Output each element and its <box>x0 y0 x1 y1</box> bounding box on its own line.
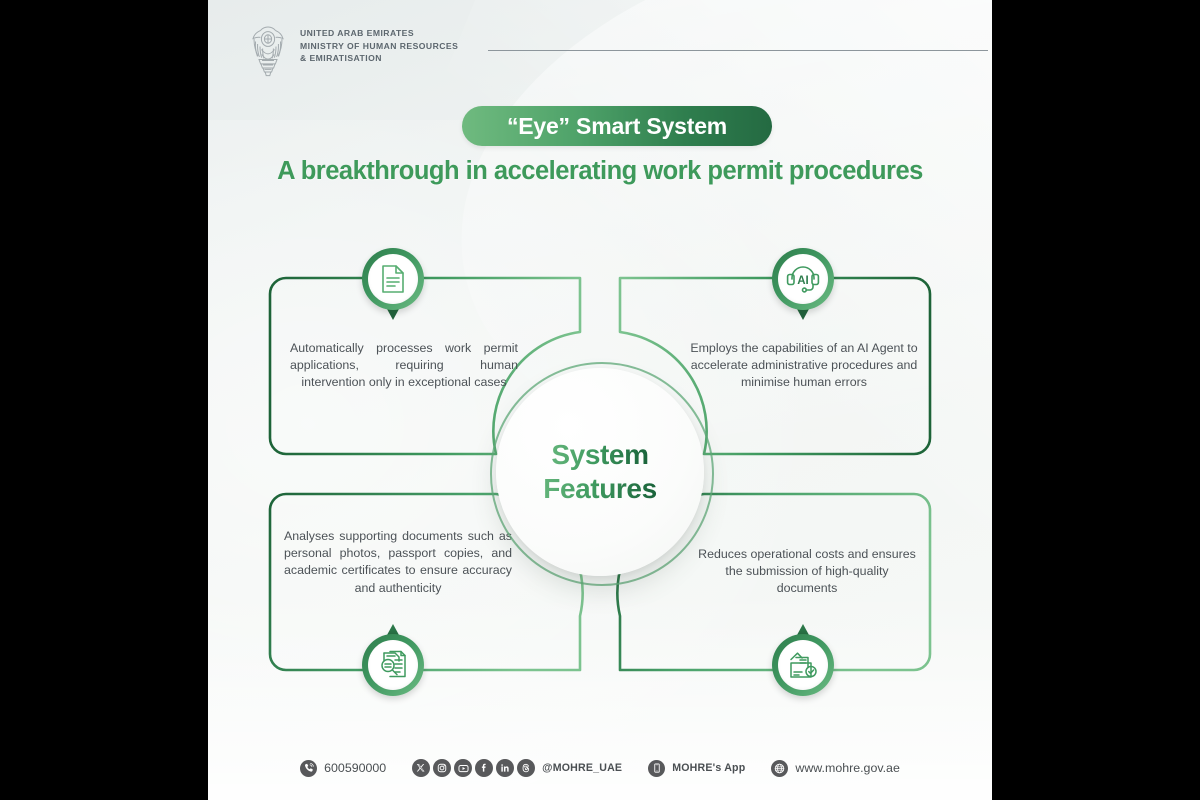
content-panel: UNITED ARAB EMIRATES MINISTRY OF HUMAN R… <box>208 0 992 800</box>
feature-badge-top-right: AI <box>772 248 834 310</box>
svg-text:AI: AI <box>797 275 809 287</box>
footer-website[interactable]: www.mohre.gov.ae <box>771 760 899 777</box>
center-circle: System Features <box>496 368 704 576</box>
verified-documents-icon <box>788 651 819 680</box>
footer-social: @MOHRE_UAE <box>412 759 622 777</box>
footer-phone[interactable]: 600590000 <box>300 760 386 777</box>
linkedin-icon[interactable] <box>496 759 514 777</box>
feature-text-bottom-right: Reduces operational costs and ensures th… <box>696 546 918 598</box>
globe-icon <box>771 760 788 777</box>
center-title-line-1: System <box>551 438 648 472</box>
poster-canvas: UNITED ARAB EMIRATES MINISTRY OF HUMAN R… <box>0 0 1200 800</box>
document-icon <box>379 264 407 294</box>
badge-inner-bottom-right <box>778 640 828 690</box>
instagram-icon[interactable] <box>433 759 451 777</box>
badge-inner-bottom-left <box>368 640 418 690</box>
feature-text-top-left: Automatically processes work permit appl… <box>290 340 518 392</box>
website-url: www.mohre.gov.ae <box>795 761 899 775</box>
feature-badge-bottom-left <box>362 634 424 696</box>
feature-text-top-right: Employs the capabilities of an AI Agent … <box>690 340 918 392</box>
mobile-app-icon <box>648 760 665 777</box>
x-icon[interactable] <box>412 759 430 777</box>
badge-inner-top-left <box>368 254 418 304</box>
feature-badge-bottom-right <box>772 634 834 696</box>
social-handle: @MOHRE_UAE <box>542 762 622 774</box>
ai-headset-icon: AI <box>786 264 820 294</box>
feature-text-bottom-left: Analyses supporting documents such as pe… <box>284 528 512 597</box>
youtube-icon[interactable] <box>454 759 472 777</box>
badge-inner-top-right: AI <box>778 254 828 304</box>
facebook-icon[interactable] <box>475 759 493 777</box>
threads-icon[interactable] <box>517 759 535 777</box>
app-label: MOHRE's App <box>672 762 745 774</box>
social-icon-list <box>412 759 535 777</box>
feature-badge-top-left <box>362 248 424 310</box>
footer-app[interactable]: MOHRE's App <box>648 760 745 777</box>
phone-number: 600590000 <box>324 761 386 775</box>
features-diagram: Automatically processes work permit appl… <box>208 0 992 800</box>
footer: 600590000 <box>208 748 992 788</box>
phone-icon <box>300 760 317 777</box>
document-search-icon <box>378 650 408 680</box>
center-title-line-2: Features <box>543 472 657 506</box>
